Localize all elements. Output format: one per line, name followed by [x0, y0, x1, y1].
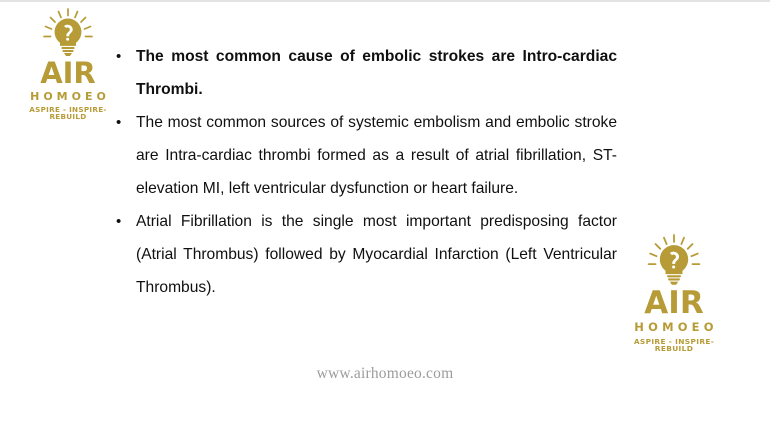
bullet-list: • The most common cause of embolic strok…: [112, 40, 617, 304]
lightbulb-question-mark-icon: [38, 8, 98, 60]
bullet-text: Atrial Fibrillation is the single most i…: [136, 205, 617, 304]
list-item: • The most common cause of embolic strok…: [112, 40, 617, 106]
brand-logo-primary: AIR HOMOEO ASPIRE - INSPIRE- REBUILD: [18, 8, 118, 120]
logo-subword: HOMOEO: [618, 322, 730, 334]
bullet-marker: •: [112, 106, 136, 139]
brand-logo-footer: AIR HOMOEO ASPIRE - INSPIRE- REBUILD: [618, 234, 730, 352]
bullet-marker: •: [112, 205, 136, 238]
logo-subword: HOMOEO: [18, 91, 118, 102]
logo-wordmark: AIR: [18, 59, 118, 88]
list-item: • Atrial Fibrillation is the single most…: [112, 205, 617, 304]
logo-tagline: ASPIRE - INSPIRE- REBUILD: [618, 338, 730, 353]
slide-canvas: AIR HOMOEO ASPIRE - INSPIRE- REBUILD • T…: [0, 0, 770, 436]
bullet-marker: •: [112, 40, 136, 73]
list-item: • The most common sources of systemic em…: [112, 106, 617, 205]
footer-website-url: www.airhomoeo.com: [0, 365, 770, 383]
bullet-text: The most common sources of systemic embo…: [136, 106, 617, 205]
logo-wordmark: AIR: [618, 288, 730, 319]
logo-tagline: ASPIRE - INSPIRE- REBUILD: [18, 106, 118, 120]
lightbulb-question-mark-icon: [642, 234, 706, 289]
top-divider: [0, 0, 770, 2]
bullet-text: The most common cause of embolic strokes…: [136, 40, 617, 106]
